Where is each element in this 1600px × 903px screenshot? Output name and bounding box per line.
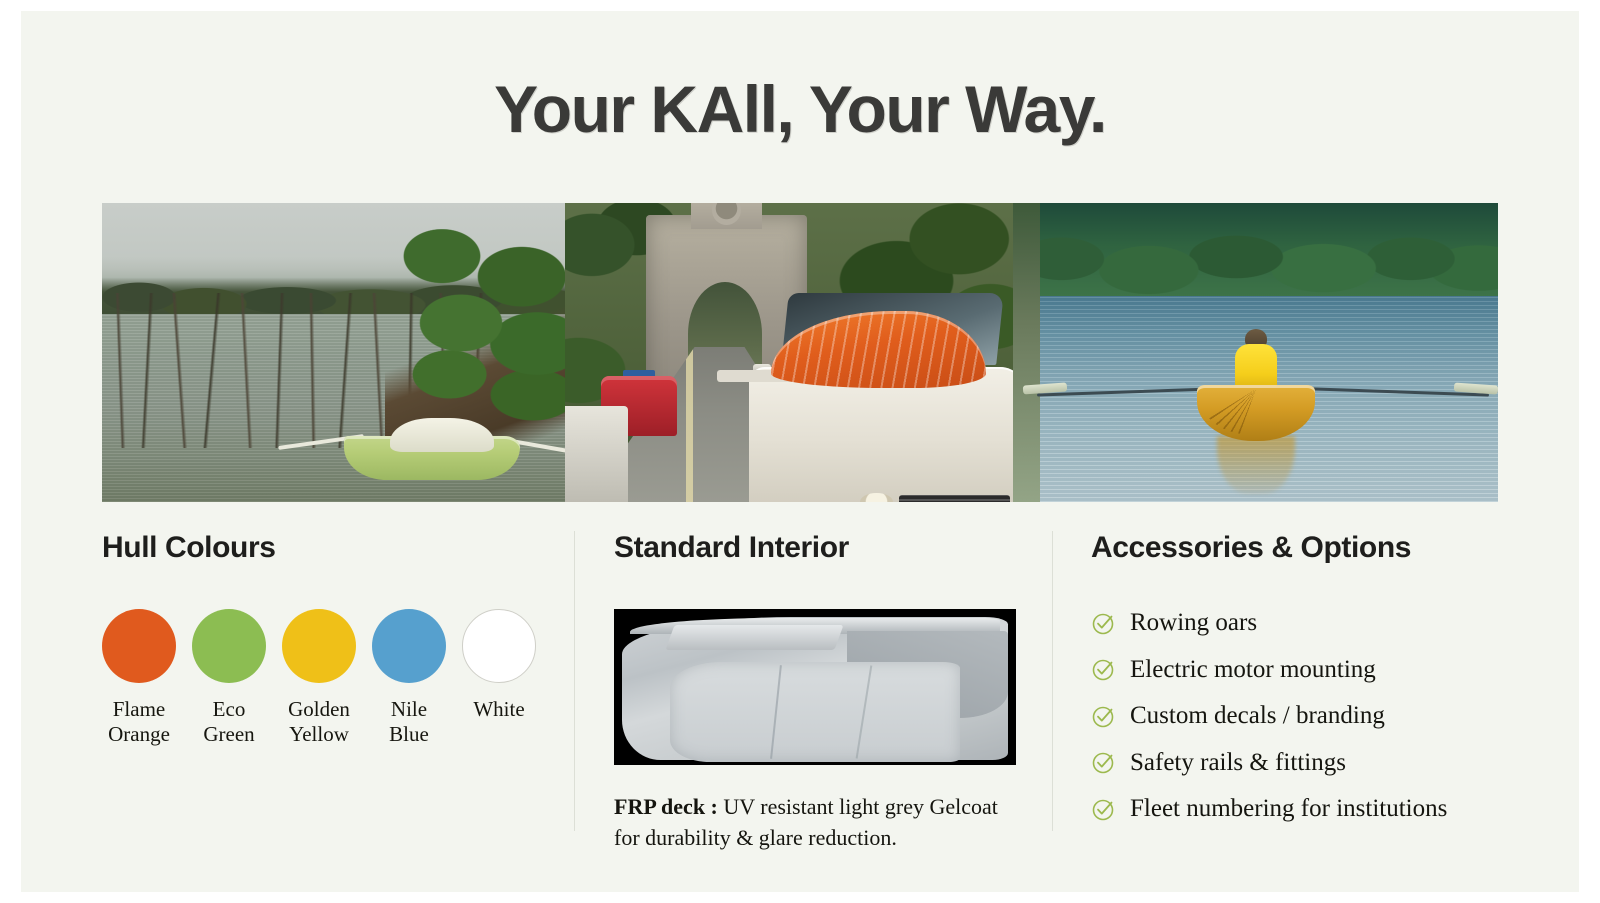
swatch-dot[interactable]	[102, 609, 176, 683]
list-item[interactable]: Fleet numbering for institutions	[1091, 795, 1498, 823]
check-circle-icon	[1091, 703, 1117, 729]
list-item-label: Electric motor mounting	[1130, 656, 1376, 684]
swatch-eco-green[interactable]: Eco Green	[192, 609, 266, 747]
swatch-label: Nile Blue	[372, 697, 446, 747]
moulded-bench	[666, 625, 844, 650]
hull-colour-swatch-list: Flame Orange Eco Green Golden Yellow	[102, 609, 544, 747]
swatch-dot[interactable]	[372, 609, 446, 683]
swatch-dot[interactable]	[192, 609, 266, 683]
list-item[interactable]: Electric motor mounting	[1091, 656, 1498, 684]
left-bank-trees	[1013, 203, 1040, 502]
swatch-label-line2: Green	[203, 722, 254, 746]
frp-deck-caption: FRP deck : UV resistant light grey Gelco…	[614, 791, 1018, 853]
swatch-label: White	[462, 697, 536, 722]
slide-canvas: Your KAll, Your Way.	[21, 11, 1579, 892]
list-item-label: Fleet numbering for institutions	[1130, 795, 1447, 823]
list-item-label: Rowing oars	[1130, 609, 1257, 637]
hull-colours-heading: Hull Colours	[102, 531, 544, 565]
foreground-left-car	[565, 406, 628, 502]
swatch-label-line1: Golden	[288, 697, 350, 721]
list-item[interactable]: Custom decals / branding	[1091, 702, 1498, 730]
swatch-label: Flame Orange	[102, 697, 176, 747]
accessories-list: Rowing oars Electric motor mounting Cust…	[1091, 609, 1498, 823]
swatch-dot[interactable]	[282, 609, 356, 683]
standard-interior-heading: Standard Interior	[614, 531, 1052, 565]
green-rowboat	[334, 418, 534, 484]
swatch-nile-blue[interactable]: Nile Blue	[372, 609, 446, 747]
swatch-label-line1: Flame	[113, 697, 166, 721]
boat-tarp	[390, 418, 494, 452]
swatch-label-line2: Orange	[108, 722, 170, 746]
swatch-golden-yellow[interactable]: Golden Yellow	[282, 609, 356, 747]
list-item[interactable]: Safety rails & fittings	[1091, 749, 1498, 777]
lake-rowing-photo	[1013, 203, 1498, 502]
accessories-heading: Accessories & Options	[1091, 531, 1498, 565]
swatch-flame-orange[interactable]: Flame Orange	[102, 609, 176, 747]
swatch-label: Eco Green	[192, 697, 266, 747]
check-circle-icon	[1091, 796, 1117, 822]
swatch-label-line2: Yellow	[289, 722, 349, 746]
page-title: Your KAll, Your Way.	[21, 71, 1579, 147]
frp-deck-caption-bold: FRP deck :	[614, 794, 723, 819]
feature-columns: Hull Colours Flame Orange Eco Green	[102, 531, 1498, 831]
swatch-dot[interactable]	[462, 609, 536, 683]
check-circle-icon	[1091, 749, 1117, 775]
car-roof-transport-photo	[565, 203, 1013, 502]
list-item-label: Safety rails & fittings	[1130, 749, 1346, 777]
swatch-label-line1: Nile	[391, 697, 427, 721]
swatch-label-line2: Blue	[389, 722, 429, 746]
hull-colours-column: Hull Colours Flame Orange Eco Green	[102, 531, 574, 831]
yellow-rowboat	[1197, 385, 1315, 441]
check-circle-icon	[1091, 656, 1117, 682]
photo-gallery-strip	[102, 203, 1498, 502]
swatch-label-line1: White	[473, 697, 524, 721]
list-item-label: Custom decals / branding	[1130, 702, 1385, 730]
frp-deck-floor	[670, 662, 959, 762]
accessories-column: Accessories & Options Rowing oars Electr…	[1052, 531, 1498, 831]
suv-headlight	[860, 493, 893, 502]
mangrove-backwater-photo	[102, 203, 565, 502]
far-shore-forest	[1013, 203, 1498, 296]
check-circle-icon	[1091, 610, 1117, 636]
swatch-white[interactable]: White	[462, 609, 536, 747]
suv-grille	[899, 495, 1010, 502]
swatch-label: Golden Yellow	[282, 697, 356, 747]
interior-deck-photo	[614, 609, 1016, 765]
list-item[interactable]: Rowing oars	[1091, 609, 1498, 637]
standard-interior-column: Standard Interior FRP deck : UV resistan…	[574, 531, 1052, 831]
swatch-label-line1: Eco	[213, 697, 246, 721]
